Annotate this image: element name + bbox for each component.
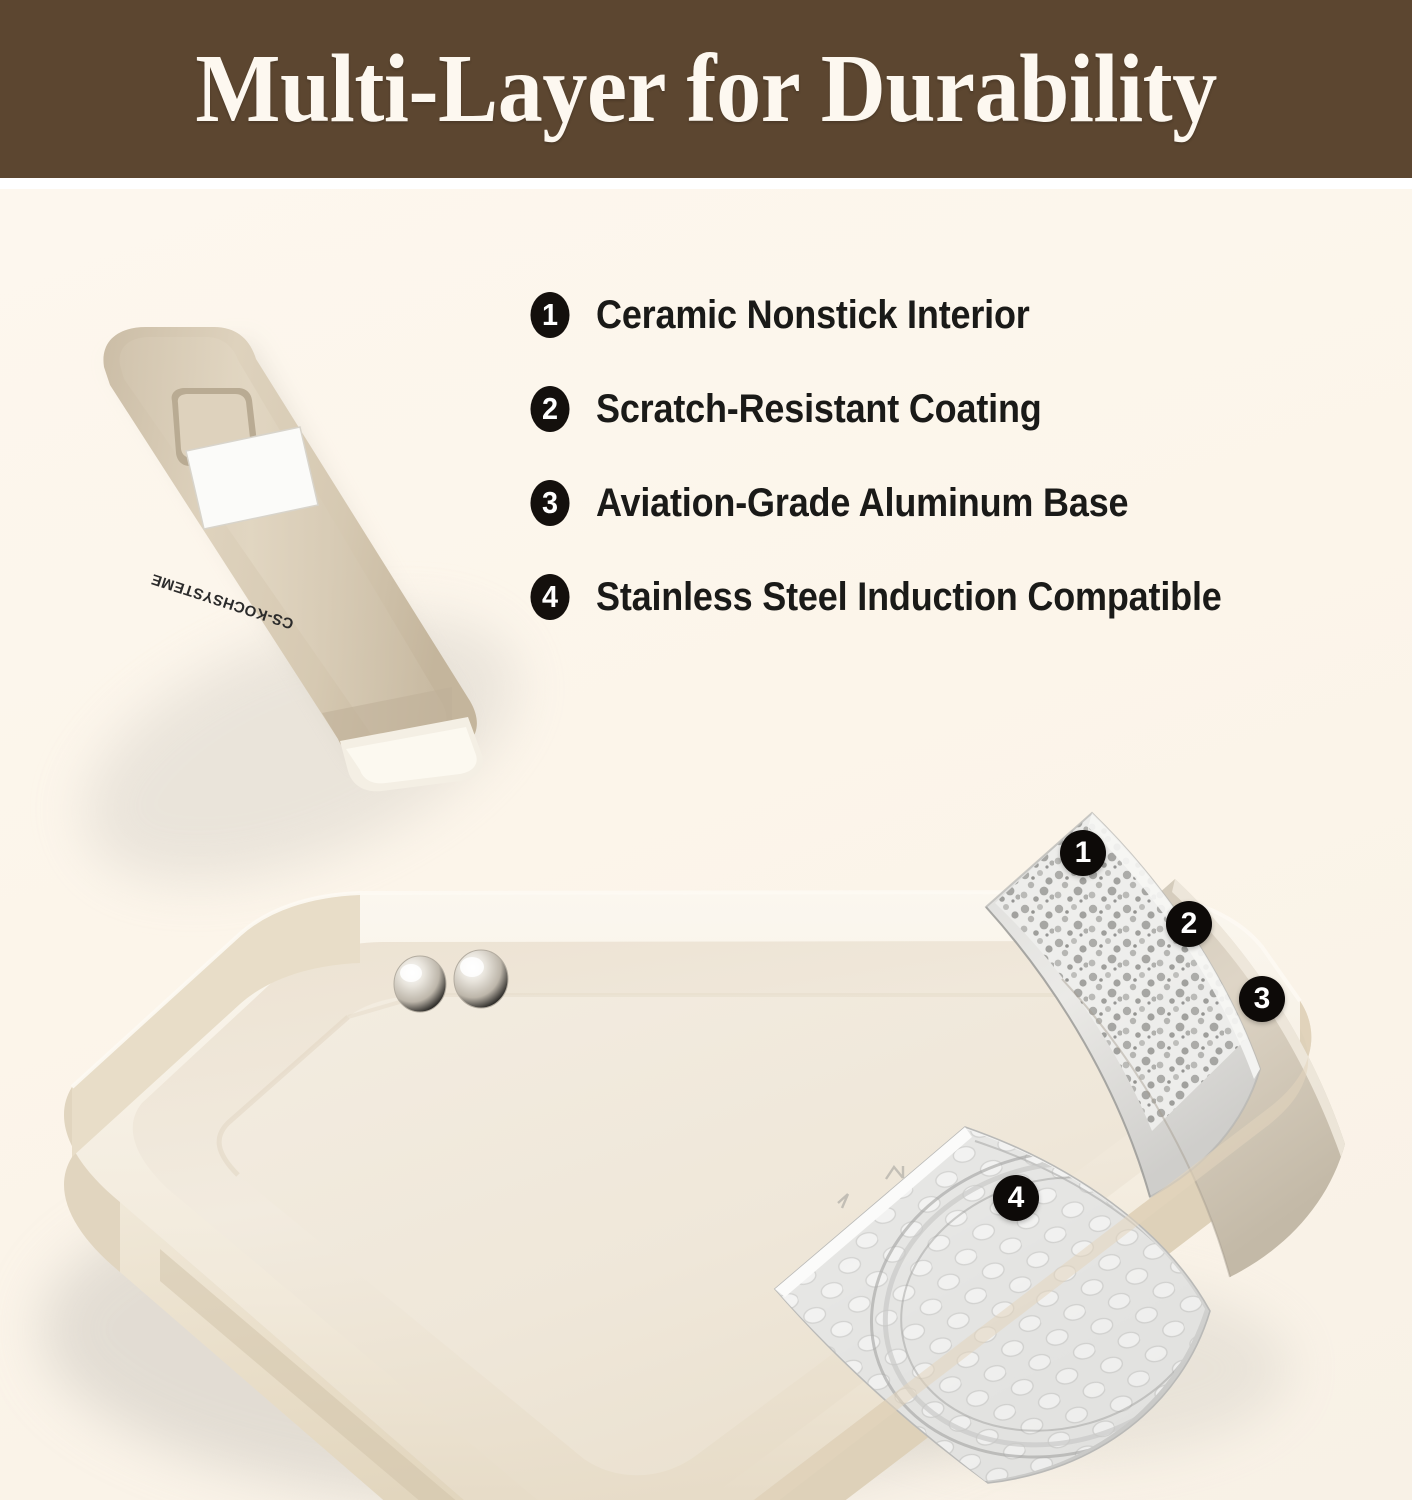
feature-item-3: 3 Aviation-Grade Aluminum Base bbox=[529, 480, 1389, 526]
feature-label-3: Aviation-Grade Aluminum Base bbox=[596, 481, 1128, 526]
feature-label-4: Stainless Steel Induction Compatible bbox=[596, 575, 1222, 620]
feature-badge-3: 3 bbox=[530, 480, 569, 526]
feature-item-2: 2 Scratch-Resistant Coating bbox=[529, 386, 1389, 432]
header-divider bbox=[0, 178, 1412, 189]
feature-badge-2: 2 bbox=[530, 386, 569, 432]
feature-item-4: 4 Stainless Steel Induction Compatible bbox=[529, 574, 1389, 620]
feature-badge-4: 4 bbox=[530, 574, 569, 620]
feature-item-1: 1 Ceramic Nonstick Interior bbox=[529, 292, 1389, 338]
feature-label-1: Ceramic Nonstick Interior bbox=[596, 293, 1030, 338]
page-title: Multi-Layer for Durability bbox=[195, 40, 1216, 138]
callout-badge-4: 4 bbox=[993, 1175, 1039, 1221]
feature-list: 1 Ceramic Nonstick Interior 2 Scratch-Re… bbox=[529, 292, 1389, 668]
infographic-page: Multi-Layer for Durability bbox=[0, 0, 1412, 1500]
product-stage: CS-KOCHSYSTEME 1 Ceramic Nonstick Interi… bbox=[0, 189, 1412, 1500]
header-banner: Multi-Layer for Durability bbox=[0, 0, 1412, 178]
feature-label-2: Scratch-Resistant Coating bbox=[596, 387, 1042, 432]
callout-badge-1: 1 bbox=[1060, 830, 1106, 876]
feature-badge-1: 1 bbox=[530, 292, 569, 338]
callout-badge-3: 3 bbox=[1239, 976, 1285, 1022]
callout-badge-2: 2 bbox=[1166, 901, 1212, 947]
